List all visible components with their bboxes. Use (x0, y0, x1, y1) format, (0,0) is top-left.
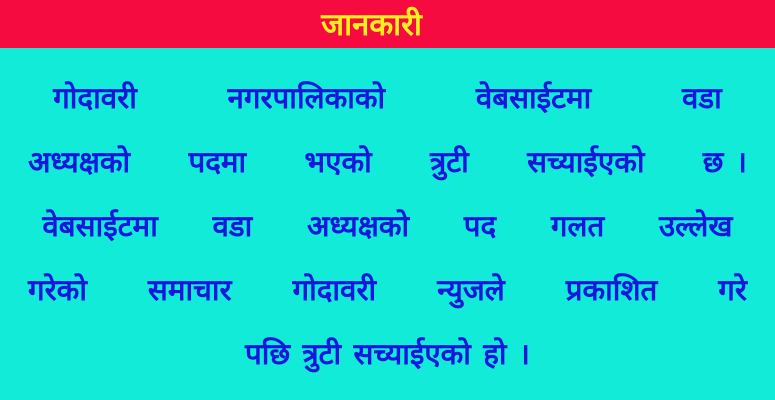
notice-word: छ । (703, 130, 747, 194)
notice-word: न्युजले (437, 258, 505, 322)
notice-word: पदमा (188, 130, 246, 194)
notice-line-5: पछि त्रुटी सच्याईएको हो । (28, 322, 747, 386)
notice-word: त्रुटी (430, 130, 469, 194)
notice-line-4: गरेको समाचार गोदावरी न्युजले प्रकाशित गर… (28, 258, 747, 322)
notice-word: प्रकाशित (566, 258, 658, 322)
page-title: जानकारी (321, 5, 422, 45)
notice-word: गोदावरी (53, 66, 137, 130)
notice-line-2: अध्यक्षको पदमा भएको त्रुटी सच्याईएको छ । (28, 130, 747, 194)
notice-word: उल्लेख (659, 194, 733, 258)
notice-word: भएको (304, 130, 371, 194)
notice-body: गोदावरी नगरपालिकाको वेबसाईटमा वडा अध्यक्… (0, 48, 775, 400)
notice-line-3: वेबसाईटमा वडा अध्यक्षको पद गलत उल्लेख (28, 194, 747, 258)
notice-word: वेबसाईटमा (476, 66, 591, 130)
notice-line-5-text: पछि त्रुटी सच्याईएको हो । (245, 322, 530, 386)
header-banner: जानकारी (0, 0, 775, 48)
notice-word: वडा (682, 66, 722, 130)
notice-word: वेबसाईटमा (42, 194, 157, 258)
notice-paragraph: गोदावरी नगरपालिकाको वेबसाईटमा वडा अध्यक्… (28, 66, 747, 386)
notice-card: जानकारी गोदावरी नगरपालिकाको वेबसाईटमा वड… (0, 0, 775, 400)
notice-word: गरे (718, 258, 747, 322)
notice-word: वडा (212, 194, 252, 258)
notice-word: अध्यक्षको (307, 194, 409, 258)
notice-word: अध्यक्षको (28, 130, 130, 194)
notice-word: गलत (551, 194, 604, 258)
notice-word: समाचार (148, 258, 232, 322)
notice-line-1: गोदावरी नगरपालिकाको वेबसाईटमा वडा (28, 66, 747, 130)
notice-word: गरेको (28, 258, 87, 322)
notice-word: गोदावरी (293, 258, 377, 322)
notice-word: नगरपालिकाको (228, 66, 386, 130)
notice-word: सच्याईएको (527, 130, 644, 194)
notice-word: पद (464, 194, 496, 258)
